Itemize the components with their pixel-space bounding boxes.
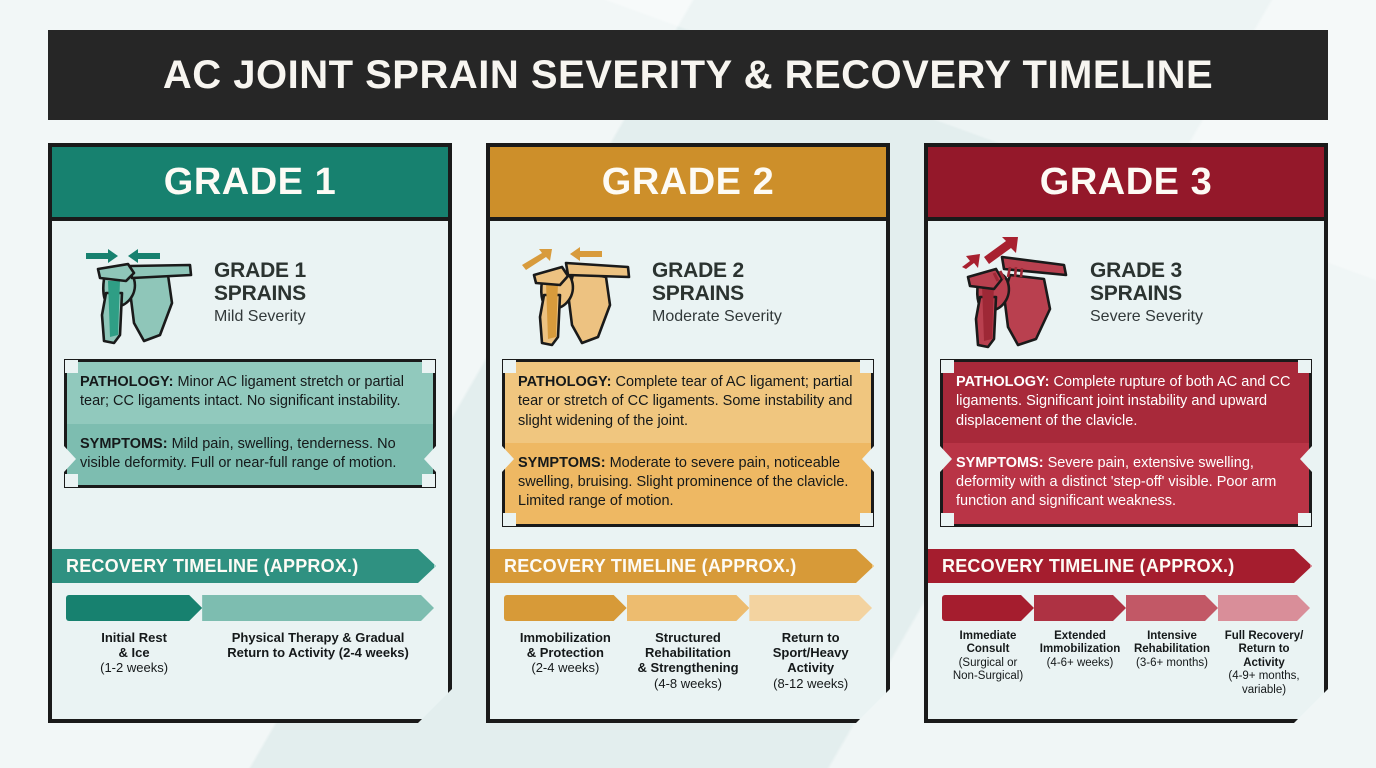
stage-item: Return toSport/HeavyActivity (8-12 weeks… bbox=[749, 595, 872, 709]
stage-name: IntensiveRehabilitation bbox=[1134, 630, 1210, 655]
grade-2-symptoms-panel: SYMPTOMS: Moderate to severe pain, notic… bbox=[505, 443, 871, 524]
stage-item: Physical Therapy & Gradual Return to Act… bbox=[202, 595, 434, 709]
grade-1-timeline-banner: RECOVERY TIMELINE (APPROX.) bbox=[52, 549, 436, 583]
stage-bar bbox=[1034, 595, 1126, 621]
stage-name: StructuredRehabilitation& Strengthening bbox=[637, 630, 738, 675]
chevron-right-icon bbox=[434, 549, 452, 583]
stage-duration: (4-8 weeks) bbox=[654, 676, 722, 691]
stage-duration: (1-2 weeks) bbox=[100, 660, 168, 675]
stage-label: ImmediateConsult (Surgical orNon-Surgica… bbox=[942, 621, 1034, 709]
shoulder-anatomy-icon bbox=[502, 231, 642, 351]
stage-duration: (2-4 weeks) bbox=[531, 660, 599, 675]
shoulder-anatomy-icon bbox=[940, 231, 1080, 351]
grade-2-symptoms-label: SYMPTOMS: bbox=[518, 455, 606, 471]
grade-1-header: GRADE 1 bbox=[52, 147, 448, 221]
stage-duration: (4-6+ weeks) bbox=[1047, 657, 1114, 669]
grade-2-hero: GRADE 2 SPRAINS Moderate Severity bbox=[490, 221, 886, 357]
stage-item: ImmediateConsult (Surgical orNon-Surgica… bbox=[942, 595, 1034, 709]
grade-2-hero-title-line1: GRADE 2 bbox=[652, 260, 872, 283]
grade-3-card: GRADE 3 bbox=[924, 143, 1328, 723]
grade-3-pathology-label: PATHOLOGY: bbox=[956, 374, 1049, 390]
notch-top-right bbox=[422, 360, 435, 373]
grade-1-info-panels: PATHOLOGY: Minor AC ligament stretch or … bbox=[64, 359, 436, 488]
shoulder-anatomy-icon bbox=[64, 231, 204, 351]
grade-1-pathology-label: PATHOLOGY: bbox=[80, 374, 173, 390]
grade-3-pathology-panel: PATHOLOGY: Complete rupture of both AC a… bbox=[943, 362, 1309, 443]
grade-2-severity: Moderate Severity bbox=[652, 308, 872, 326]
stage-name: Immobilization& Protection bbox=[520, 630, 611, 660]
stage-label: Return toSport/HeavyActivity (8-12 weeks… bbox=[749, 621, 872, 709]
grade-1-stages: Initial Rest& Ice (1-2 weeks) Physical T… bbox=[66, 595, 434, 709]
stage-bar bbox=[202, 595, 434, 621]
grade-3-symptoms-panel: SYMPTOMS: Severe pain, extensive swellin… bbox=[943, 443, 1309, 524]
stage-bar bbox=[942, 595, 1034, 621]
grade-1-symptoms-label: SYMPTOMS: bbox=[80, 436, 168, 452]
grade-2-timeline-banner: RECOVERY TIMELINE (APPROX.) bbox=[490, 549, 874, 583]
notch-bottom-right bbox=[860, 513, 873, 526]
notch-bottom-right bbox=[422, 474, 435, 487]
stage-label: StructuredRehabilitation& Strengthening … bbox=[627, 621, 750, 709]
grade-1-header-label: GRADE 1 bbox=[164, 161, 336, 204]
notch-top-right bbox=[860, 360, 873, 373]
grade-2-pathology-label: PATHOLOGY: bbox=[518, 374, 611, 390]
stage-item: StructuredRehabilitation& Strengthening … bbox=[627, 595, 750, 709]
stage-item: Initial Rest& Ice (1-2 weeks) bbox=[66, 595, 202, 709]
stage-label: Physical Therapy & Gradual Return to Act… bbox=[202, 621, 434, 709]
grade-1-card: GRADE 1 bbox=[48, 143, 452, 723]
stage-label: IntensiveRehabilitation (3-6+ months) bbox=[1126, 621, 1218, 709]
grade-1-hero: GRADE 1 SPRAINS Mild Severity bbox=[52, 221, 448, 357]
page-title: AC JOINT SPRAIN SEVERITY & RECOVERY TIME… bbox=[163, 53, 1213, 98]
stage-item: Immobilization& Protection (2-4 weeks) bbox=[504, 595, 627, 709]
notch-top-left bbox=[941, 360, 954, 373]
grade-1-timeline-heading: RECOVERY TIMELINE (APPROX.) bbox=[66, 556, 358, 577]
stage-duration: (3-6+ months) bbox=[1136, 657, 1208, 669]
grade-1-hero-title-line2: SPRAINS bbox=[214, 283, 434, 306]
stage-label: Initial Rest& Ice (1-2 weeks) bbox=[66, 621, 202, 709]
notch-top-left bbox=[65, 360, 78, 373]
grade-1-hero-text: GRADE 1 SPRAINS Mild Severity bbox=[214, 256, 434, 326]
stage-item: Full Recovery/Return toActivity (4-9+ mo… bbox=[1218, 595, 1310, 709]
grade-1-symptoms-panel: SYMPTOMS: Mild pain, swelling, tendernes… bbox=[67, 424, 433, 486]
stage-bar bbox=[1126, 595, 1218, 621]
grade-3-timeline-banner: RECOVERY TIMELINE (APPROX.) bbox=[928, 549, 1312, 583]
stage-bar bbox=[1218, 595, 1310, 621]
grade-2-body: GRADE 2 SPRAINS Moderate Severity PATHOL… bbox=[490, 221, 886, 719]
grade-3-symptoms-label: SYMPTOMS: bbox=[956, 455, 1044, 471]
grade-2-info-panels: PATHOLOGY: Complete tear of AC ligament;… bbox=[502, 359, 874, 527]
grade-2-hero-title-line2: SPRAINS bbox=[652, 283, 872, 306]
grade-3-timeline-heading: RECOVERY TIMELINE (APPROX.) bbox=[942, 556, 1234, 577]
notch-bottom-left bbox=[503, 513, 516, 526]
grade-3-stages: ImmediateConsult (Surgical orNon-Surgica… bbox=[942, 595, 1310, 709]
chevron-right-icon bbox=[1310, 549, 1328, 583]
grade-3-severity: Severe Severity bbox=[1090, 308, 1310, 326]
stage-item: IntensiveRehabilitation (3-6+ months) bbox=[1126, 595, 1218, 709]
chevron-right-icon bbox=[872, 549, 890, 583]
stage-duration: (8-12 weeks) bbox=[773, 676, 848, 691]
grade-2-timeline-heading: RECOVERY TIMELINE (APPROX.) bbox=[504, 556, 796, 577]
notch-bottom-left bbox=[941, 513, 954, 526]
grade-3-hero-title-line2: SPRAINS bbox=[1090, 283, 1310, 306]
grade-2-header: GRADE 2 bbox=[490, 147, 886, 221]
infographic-page: AC JOINT SPRAIN SEVERITY & RECOVERY TIME… bbox=[0, 0, 1376, 768]
grade-1-timeline: RECOVERY TIMELINE (APPROX.) Initial Rest… bbox=[52, 549, 448, 719]
stage-duration: Return to Activity (2-4 weeks) bbox=[227, 645, 409, 660]
stage-name: Full Recovery/Return toActivity bbox=[1225, 630, 1304, 669]
stage-duration: (4-9+ months,variable) bbox=[1228, 670, 1299, 695]
grade-3-info-panels: PATHOLOGY: Complete rupture of both AC a… bbox=[940, 359, 1312, 527]
notch-top-right bbox=[1298, 360, 1311, 373]
grade-2-header-label: GRADE 2 bbox=[602, 161, 774, 204]
grade-2-hero-text: GRADE 2 SPRAINS Moderate Severity bbox=[652, 256, 872, 326]
stage-name: Physical Therapy & Gradual bbox=[232, 630, 405, 645]
title-bar: AC JOINT SPRAIN SEVERITY & RECOVERY TIME… bbox=[48, 30, 1328, 120]
stage-label: Immobilization& Protection (2-4 weeks) bbox=[504, 621, 627, 709]
stage-name: Initial Rest& Ice bbox=[101, 630, 167, 660]
grade-3-hero: GRADE 3 SPRAINS Severe Severity bbox=[928, 221, 1324, 357]
notch-bottom-left bbox=[65, 474, 78, 487]
compression-arrows bbox=[86, 249, 160, 263]
stage-name: ImmediateConsult bbox=[960, 630, 1017, 655]
stage-duration: (Surgical orNon-Surgical) bbox=[953, 657, 1023, 682]
grade-1-pathology-panel: PATHOLOGY: Minor AC ligament stretch or … bbox=[67, 362, 433, 424]
grade-3-hero-text: GRADE 3 SPRAINS Severe Severity bbox=[1090, 256, 1310, 326]
stage-name: Return toSport/HeavyActivity bbox=[773, 630, 849, 675]
grade-2-stages: Immobilization& Protection (2-4 weeks) S… bbox=[504, 595, 872, 709]
grade-3-header: GRADE 3 bbox=[928, 147, 1324, 221]
grade-2-timeline: RECOVERY TIMELINE (APPROX.) Immobilizati… bbox=[490, 549, 886, 719]
stage-label: Full Recovery/Return toActivity (4-9+ mo… bbox=[1218, 621, 1310, 709]
stage-item: ExtendedImmobilization (4-6+ weeks) bbox=[1034, 595, 1126, 709]
grade-3-hero-title-line1: GRADE 3 bbox=[1090, 260, 1310, 283]
stage-bar bbox=[504, 595, 627, 621]
stage-name: ExtendedImmobilization bbox=[1040, 630, 1121, 655]
stage-bar bbox=[627, 595, 750, 621]
grade-2-card: GRADE 2 bbox=[486, 143, 890, 723]
grade-2-pathology-panel: PATHOLOGY: Complete tear of AC ligament;… bbox=[505, 362, 871, 443]
grade-1-hero-title-line1: GRADE 1 bbox=[214, 260, 434, 283]
notch-bottom-right bbox=[1298, 513, 1311, 526]
stage-bar bbox=[66, 595, 202, 621]
grade-1-severity: Mild Severity bbox=[214, 308, 434, 326]
grade-3-body: GRADE 3 SPRAINS Severe Severity PATHOLOG… bbox=[928, 221, 1324, 719]
stage-label: ExtendedImmobilization (4-6+ weeks) bbox=[1034, 621, 1126, 709]
notch-top-left bbox=[503, 360, 516, 373]
stage-bar bbox=[749, 595, 872, 621]
grade-1-body: GRADE 1 SPRAINS Mild Severity PATHOLOGY:… bbox=[52, 221, 448, 719]
grade-3-timeline: RECOVERY TIMELINE (APPROX.) ImmediateCon… bbox=[928, 549, 1324, 719]
grade-3-header-label: GRADE 3 bbox=[1040, 161, 1212, 204]
